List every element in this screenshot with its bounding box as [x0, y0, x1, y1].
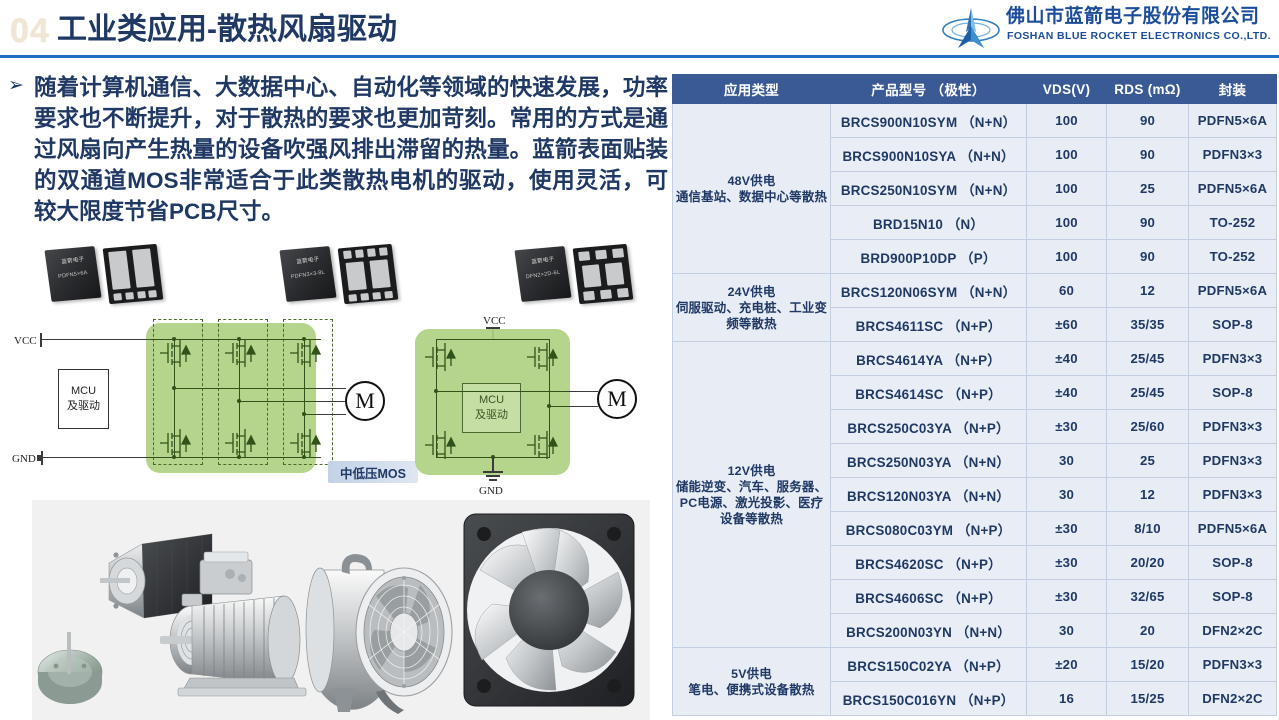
- vds-cell: ±30: [1027, 512, 1107, 546]
- package-cell: PDFN3×3: [1189, 648, 1277, 682]
- part-number-cell: BRCS4614YA （N+P）: [831, 342, 1027, 376]
- mcu-label-line2: 及驱动: [67, 399, 100, 414]
- vds-cell: 30: [1027, 478, 1107, 512]
- col-header-application-type: 应用类型: [673, 75, 831, 104]
- package-cell: PDFN3×3: [1189, 342, 1277, 376]
- package-bottom-view: [338, 244, 399, 304]
- col-header-rds: RDS (mΩ): [1107, 75, 1189, 104]
- mcu-label-line2: 及驱动: [475, 408, 508, 423]
- vds-cell: ±40: [1027, 342, 1107, 376]
- package-cell: PDFN5×6A: [1189, 274, 1277, 308]
- vds-cell: 100: [1027, 138, 1107, 172]
- part-number-cell: BRCS120N06SYM （N+N）: [831, 274, 1027, 308]
- motor-symbol-left: M: [345, 381, 385, 421]
- part-number-cell: BRCS120N03YA （N+N）: [831, 478, 1027, 512]
- photo-case-fan: [464, 514, 634, 706]
- part-number-cell: BRCS4611SC （N+P）: [831, 308, 1027, 342]
- package-photo-dfn2x2: 蓝箭电子 DFN2×2D-6L: [510, 242, 660, 306]
- table-row: 5V供电笔电、便携式设备散热BRCS150C02YA （N+P）±2015/20…: [673, 648, 1277, 682]
- rds-cell: 15/25: [1107, 682, 1189, 716]
- application-type-cell: 48V供电通信基站、数据中心等散热: [673, 104, 831, 274]
- vds-cell: 100: [1027, 240, 1107, 274]
- mcu-label-line1: MCU: [71, 384, 96, 399]
- vds-cell: 60: [1027, 274, 1107, 308]
- package-cell: TO-252: [1189, 240, 1277, 274]
- section-number: 04: [10, 14, 50, 48]
- rds-cell: 25/45: [1107, 342, 1189, 376]
- part-number-cell: BRCS4606SC （N+P）: [831, 580, 1027, 614]
- table-row: 48V供电通信基站、数据中心等散热BRCS900N10SYM （N+N）1009…: [673, 104, 1277, 138]
- header-divider: [0, 55, 1279, 58]
- mos-callout-tag: 中低压MOS: [328, 461, 418, 483]
- circuit-diagram-area: VCC GND MCU 及驱动: [0, 305, 668, 505]
- rds-cell: 35/35: [1107, 308, 1189, 342]
- intro-paragraph: 随着计算机通信、大数据中心、自动化等领域的快速发展，功率要求也不断提升，对于散热…: [34, 72, 668, 227]
- gnd-label-right: GND: [479, 485, 503, 497]
- application-type-cell: 12V供电储能逆变、汽车、服务器、PC电源、激光投影、医疗设备等散热: [673, 342, 831, 648]
- vds-cell: 30: [1027, 444, 1107, 478]
- package-photo-pdfn3x3: 蓝箭电子 PDFN3×3-8L: [275, 242, 425, 306]
- vds-cell: ±30: [1027, 410, 1107, 444]
- part-number-cell: BRD15N10 （N）: [831, 206, 1027, 240]
- package-cell: PDFN5×6A: [1189, 512, 1277, 546]
- col-header-part-number: 产品型号 （极性）: [831, 75, 1027, 104]
- company-logo: 佛山市蓝箭电子股份有限公司 FOSHAN BLUE ROCKET ELECTRO…: [940, 4, 1275, 52]
- motor-symbol-right: M: [597, 379, 637, 419]
- package-bottom-view: [573, 244, 634, 304]
- col-header-vds: VDS(V): [1027, 75, 1107, 104]
- package-cell: SOP-8: [1189, 546, 1277, 580]
- part-number-cell: BRCS900N10SYA （N+N）: [831, 138, 1027, 172]
- package-photo-row: 蓝箭电子 PDFN5×6A 蓝箭电子 PDFN3×3-8L: [40, 242, 660, 306]
- package-cell: PDFN3×3: [1189, 410, 1277, 444]
- rds-cell: 12: [1107, 478, 1189, 512]
- table-row: 12V供电储能逆变、汽车、服务器、PC电源、激光投影、医疗设备等散热BRCS46…: [673, 342, 1277, 376]
- package-cell: PDFN5×6A: [1189, 172, 1277, 206]
- vcc-label-left: VCC: [14, 335, 37, 347]
- package-bottom-view: [103, 244, 164, 304]
- part-number-cell: BRCS250N03YA （N+N）: [831, 444, 1027, 478]
- rds-cell: 20: [1107, 614, 1189, 648]
- mosfet-symbols-left: [146, 319, 336, 469]
- vds-cell: 100: [1027, 104, 1107, 138]
- rds-cell: 90: [1107, 206, 1189, 240]
- vds-cell: ±40: [1027, 376, 1107, 410]
- part-number-cell: BRCS200N03YN （N+N）: [831, 614, 1027, 648]
- gnd-label-left: GND: [12, 453, 36, 465]
- vds-cell: ±30: [1027, 580, 1107, 614]
- part-number-cell: BRCS4620SC （N+P）: [831, 546, 1027, 580]
- package-cell: SOP-8: [1189, 308, 1277, 342]
- part-number-cell: BRCS250C03YA （N+P）: [831, 410, 1027, 444]
- logo-text-en: FOSHAN BLUE ROCKET ELECTRONICS CO.,LTD.: [1007, 30, 1271, 42]
- rds-cell: 20/20: [1107, 546, 1189, 580]
- rds-cell: 90: [1107, 104, 1189, 138]
- col-header-package: 封装: [1189, 75, 1277, 104]
- application-type-cell: 24V供电伺服驱动、充电桩、工业变频等散热: [673, 274, 831, 342]
- rds-cell: 8/10: [1107, 512, 1189, 546]
- rds-cell: 90: [1107, 240, 1189, 274]
- product-table-wrapper: 应用类型 产品型号 （极性） VDS(V) RDS (mΩ) 封装 48V供电通…: [672, 74, 1276, 716]
- part-number-cell: BRCS4614SC （N+P）: [831, 376, 1027, 410]
- vds-cell: ±60: [1027, 308, 1107, 342]
- vds-cell: 100: [1027, 172, 1107, 206]
- table-row: 24V供电伺服驱动、充电桩、工业变频等散热BRCS120N06SYM （N+N）…: [673, 274, 1277, 308]
- rds-cell: 25: [1107, 444, 1189, 478]
- slide-header: 04 工业类应用-散热风扇驱动 佛山市蓝箭电子股份有限公司 FOSHAN BLU…: [0, 0, 1279, 58]
- part-number-cell: BRCS080C03YM （N+P）: [831, 512, 1027, 546]
- bullet-arrow-icon: ➢: [8, 76, 24, 96]
- package-cell: SOP-8: [1189, 376, 1277, 410]
- mcu-block-left: MCU 及驱动: [58, 369, 109, 429]
- left-content-panel: ➢ 随着计算机通信、大数据中心、自动化等领域的快速发展，功率要求也不断提升，对于…: [0, 60, 668, 720]
- rds-cell: 25: [1107, 172, 1189, 206]
- package-cell: PDFN5×6A: [1189, 104, 1277, 138]
- vds-cell: 100: [1027, 206, 1107, 240]
- part-number-cell: BRCS900N10SYM （N+N）: [831, 104, 1027, 138]
- package-cell: PDFN3×3: [1189, 478, 1277, 512]
- table-header-row: 应用类型 产品型号 （极性） VDS(V) RDS (mΩ) 封装: [673, 75, 1277, 104]
- package-cell: PDFN3×3: [1189, 138, 1277, 172]
- rds-cell: 12: [1107, 274, 1189, 308]
- product-table: 应用类型 产品型号 （极性） VDS(V) RDS (mΩ) 封装 48V供电通…: [672, 74, 1277, 716]
- application-type-cell: 5V供电笔电、便携式设备散热: [673, 648, 831, 716]
- rds-cell: 90: [1107, 138, 1189, 172]
- vds-cell: ±20: [1027, 648, 1107, 682]
- package-cell: TO-252: [1189, 206, 1277, 240]
- part-number-cell: BRCS150C02YA （N+P）: [831, 648, 1027, 682]
- mcu-label-line1: MCU: [479, 393, 504, 408]
- vds-cell: ±30: [1027, 546, 1107, 580]
- package-photo-pdfn5x6a: 蓝箭电子 PDFN5×6A: [40, 242, 190, 306]
- part-number-cell: BRCS150C016YN （N+P）: [831, 682, 1027, 716]
- package-cell: SOP-8: [1189, 580, 1277, 614]
- rds-cell: 15/20: [1107, 648, 1189, 682]
- vds-cell: 30: [1027, 614, 1107, 648]
- package-cell: DFN2×2C: [1189, 614, 1277, 648]
- part-number-cell: BRCS250N10SYM （N+N）: [831, 172, 1027, 206]
- application-photo-strip: [32, 500, 650, 720]
- package-cell: DFN2×2C: [1189, 682, 1277, 716]
- part-number-cell: BRD900P10DP （P）: [831, 240, 1027, 274]
- rds-cell: 25/60: [1107, 410, 1189, 444]
- table-body: 48V供电通信基站、数据中心等散热BRCS900N10SYM （N+N）1009…: [673, 104, 1277, 716]
- page-title: 工业类应用-散热风扇驱动: [57, 12, 397, 48]
- package-cell: PDFN3×3: [1189, 444, 1277, 478]
- logo-text-cn: 佛山市蓝箭电子股份有限公司: [1006, 6, 1260, 28]
- blue-rocket-logo-icon: [940, 6, 1002, 50]
- rds-cell: 25/45: [1107, 376, 1189, 410]
- slide-root: 04 工业类应用-散热风扇驱动 佛山市蓝箭电子股份有限公司 FOSHAN BLU…: [0, 0, 1279, 720]
- vds-cell: 16: [1027, 682, 1107, 716]
- rds-cell: 32/65: [1107, 580, 1189, 614]
